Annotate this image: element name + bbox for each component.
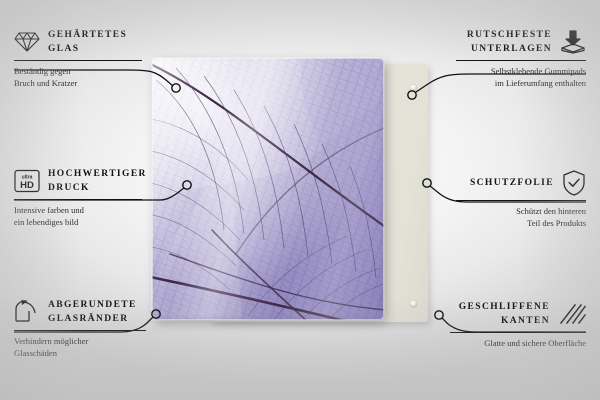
feature-title-line1: RUTSCHFESTE (467, 28, 552, 42)
feature-title: HOCHWERTIGER DRUCK (48, 167, 147, 195)
feature-divider (14, 330, 146, 331)
feature-title-line1: ABGERUNDETE (48, 298, 137, 312)
feature-schutzfolie: SCHUTZFOLIE Schützt den hinteren Teil de… (456, 170, 586, 229)
feature-header: SCHUTZFOLIE (456, 170, 586, 196)
feature-title-line2: GLAS (48, 42, 127, 56)
feature-title: GESCHLIFFENE KANTEN (459, 300, 550, 328)
feature-title-line2: DRUCK (48, 181, 147, 195)
feature-header: GESCHLIFFENE KANTEN (450, 300, 586, 328)
feature-description: Beständig gegen Bruch und Kratzer (14, 66, 142, 89)
feature-geschliffene-kanten: GESCHLIFFENE KANTEN Glatte und sichere O… (450, 300, 586, 350)
svg-text:HD: HD (20, 180, 34, 191)
feature-rutschfeste-unterlagen: RUTSCHFESTE UNTERLAGEN Selbstklebende Gu… (456, 28, 586, 89)
feature-divider (14, 60, 142, 61)
feature-abgerundete-glasraender: ABGERUNDETE GLASRÄNDER Verhindern möglic… (14, 298, 146, 359)
feature-title: GEHÄRTETES GLAS (48, 28, 127, 56)
feature-description: Verhindern möglicher Glasschäden (14, 336, 146, 359)
rounded-corner-icon (14, 299, 40, 325)
shield-check-icon (562, 170, 586, 196)
feature-description: Intensive farben und ein lebendiges bild (14, 205, 142, 228)
diamond-icon (14, 31, 40, 53)
product-infographic: GEHÄRTETES GLAS Beständig gegen Bruch un… (0, 0, 600, 400)
rubber-pad (410, 84, 417, 91)
feature-title: RUTSCHFESTE UNTERLAGEN (467, 28, 552, 56)
feature-header: ultra HD HOCHWERTIGER DRUCK (14, 167, 142, 195)
feature-description: Schützt den hinteren Teil des Produkts (456, 206, 586, 229)
feature-divider (456, 200, 586, 201)
feature-description: Glatte und sichere Oberfläche (450, 338, 586, 350)
ground-edges-icon (558, 302, 586, 326)
feature-description: Selbstklebende Gummipads im Lieferumfang… (456, 66, 586, 89)
feature-hochwertiger-druck: ultra HD HOCHWERTIGER DRUCK Intensive fa… (14, 167, 142, 228)
feature-title-line2: UNTERLAGEN (467, 42, 552, 56)
feature-title-line1: GESCHLIFFENE (459, 300, 550, 314)
feature-divider (14, 199, 142, 200)
feature-title-line1: GEHÄRTETES (48, 28, 127, 42)
feature-header: ABGERUNDETE GLASRÄNDER (14, 298, 146, 326)
feature-divider (456, 60, 586, 61)
feature-title-line1: HOCHWERTIGER (48, 167, 147, 181)
feature-gehaertetes-glas: GEHÄRTETES GLAS Beständig gegen Bruch un… (14, 28, 142, 89)
feature-title-line1: SCHUTZFOLIE (470, 176, 554, 190)
ultra-hd-icon: ultra HD (14, 169, 40, 193)
feature-header: GEHÄRTETES GLAS (14, 28, 142, 56)
product-mockup (152, 58, 432, 326)
rubber-pad (410, 300, 417, 307)
connector-dot (435, 311, 443, 319)
arrow-down-pad-icon (560, 30, 586, 54)
feature-header: RUTSCHFESTE UNTERLAGEN (456, 28, 586, 56)
feature-title-line2: GLASRÄNDER (48, 312, 137, 326)
feature-divider (450, 332, 586, 333)
feature-title: ABGERUNDETE GLASRÄNDER (48, 298, 137, 326)
feature-title: SCHUTZFOLIE (470, 176, 554, 190)
glass-front-panel (152, 58, 384, 320)
feature-title-line2: KANTEN (459, 314, 550, 328)
leaf-artwork (152, 58, 384, 320)
